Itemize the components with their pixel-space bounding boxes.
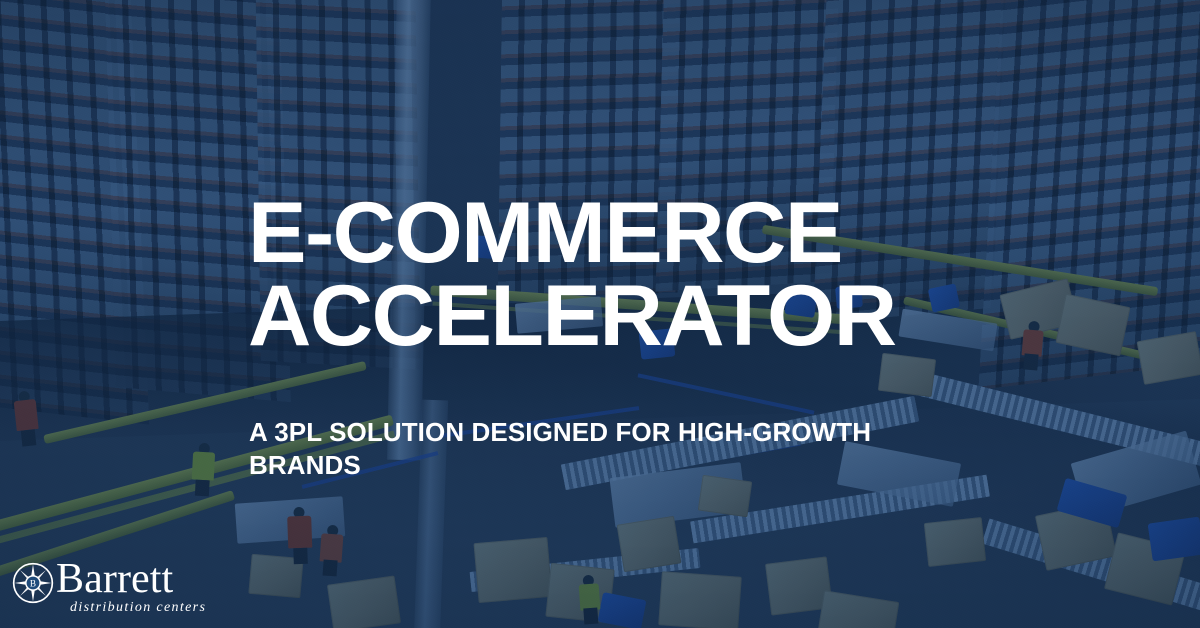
logo-wordmark: Barrett distribution centers	[56, 560, 206, 616]
logo-name: Barrett	[56, 560, 206, 599]
hero-banner: E-COMMERCE ACCELERATOR A 3PL SOLUTION DE…	[0, 0, 1200, 628]
subtitle: A 3PL SOLUTION DESIGNED FOR HIGH-GROWTH …	[249, 416, 921, 482]
logo-tagline: distribution centers	[70, 600, 206, 616]
compass-rose-icon: B	[12, 562, 54, 604]
logo-mark-letter: B	[30, 579, 36, 589]
banner-content: E-COMMERCE ACCELERATOR A 3PL SOLUTION DE…	[0, 0, 1200, 628]
barrett-logo[interactable]: B Barrett distribution centers	[12, 560, 206, 616]
headline-line-2: ACCELERATOR	[248, 275, 962, 358]
page-title: E-COMMERCE ACCELERATOR	[248, 192, 962, 357]
headline-line-1: E-COMMERCE	[248, 192, 962, 275]
